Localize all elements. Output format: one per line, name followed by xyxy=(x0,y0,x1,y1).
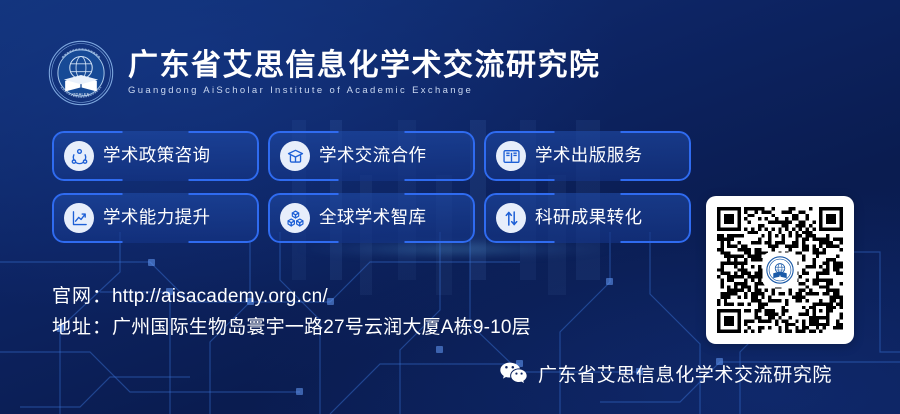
page-title: 广东省艾思信息化学术交流研究院 xyxy=(128,50,601,82)
wechat-icon xyxy=(500,362,527,385)
contact-block: 官网： http://aisacademy.org.cn/ 地址： 广州国际生物… xyxy=(52,281,531,343)
service-pill-label: 学术能力提升 xyxy=(103,209,210,227)
wechat-account-name: 广东省艾思信息化学术交流研究院 xyxy=(538,360,832,387)
wechat-official-account-qr-code[interactable] xyxy=(717,207,843,333)
address-row: 地址： 广州国际生物岛寰宇一路27号云润大厦A栋9-10层 xyxy=(52,312,531,343)
line-chart-icon xyxy=(64,203,94,233)
qr-center-logo xyxy=(764,254,796,286)
open-book-icon xyxy=(496,141,526,171)
service-pill-label: 学术出版服务 xyxy=(535,147,642,165)
website-label: 官网： xyxy=(52,281,112,312)
service-pill-academic-publishing-service[interactable]: 学术出版服务 xyxy=(484,131,691,181)
service-pill-label: 学术政策咨询 xyxy=(103,147,210,165)
address-value: 广州国际生物岛寰宇一路27号云润大厦A栋9-10层 xyxy=(112,312,531,343)
brand-text-block: 广东省艾思信息化学术交流研究院 Guangdong AiScholar Inst… xyxy=(128,50,601,97)
website-url[interactable]: http://aisacademy.org.cn/ xyxy=(112,281,328,312)
service-pill-label: 全球学术智库 xyxy=(319,209,426,227)
graduation-cap-icon xyxy=(280,141,310,171)
service-pill-research-achievement-transformation[interactable]: 科研成果转化 xyxy=(484,193,691,243)
logo-seal-text: ODALEE xyxy=(72,91,90,96)
service-pill-academic-capability-improvement[interactable]: 学术能力提升 xyxy=(52,193,259,243)
service-pill-label: 科研成果转化 xyxy=(535,209,642,227)
qr-code-card[interactable] xyxy=(706,196,854,344)
promotional-banner: ODALEE 广东省艾思信息化学术交流研究院 Guangdong AiSchol… xyxy=(0,0,900,414)
institute-seal-logo-small xyxy=(766,256,794,284)
address-label: 地址： xyxy=(52,312,112,343)
wechat-account-line: 广东省艾思信息化学术交流研究院 xyxy=(500,360,832,387)
service-pill-academic-exchange-cooperation[interactable]: 学术交流合作 xyxy=(268,131,475,181)
stacked-cubes-icon xyxy=(280,203,310,233)
transfer-arrows-icon xyxy=(496,203,526,233)
service-pill-academic-policy-consulting[interactable]: 学术政策咨询 xyxy=(52,131,259,181)
website-row: 官网： http://aisacademy.org.cn/ xyxy=(52,281,531,312)
service-pill-grid: 学术政策咨询 学术交流合作 学术出版服务 xyxy=(52,131,691,243)
service-pill-label: 学术交流合作 xyxy=(319,147,426,165)
institute-seal-logo: ODALEE xyxy=(48,40,114,106)
service-pill-global-academic-think-tank[interactable]: 全球学术智库 xyxy=(268,193,475,243)
network-nodes-icon xyxy=(64,141,94,171)
page-subtitle: Guangdong AiScholar Institute of Academi… xyxy=(128,85,601,96)
brand-header: ODALEE 广东省艾思信息化学术交流研究院 Guangdong AiSchol… xyxy=(48,40,601,106)
